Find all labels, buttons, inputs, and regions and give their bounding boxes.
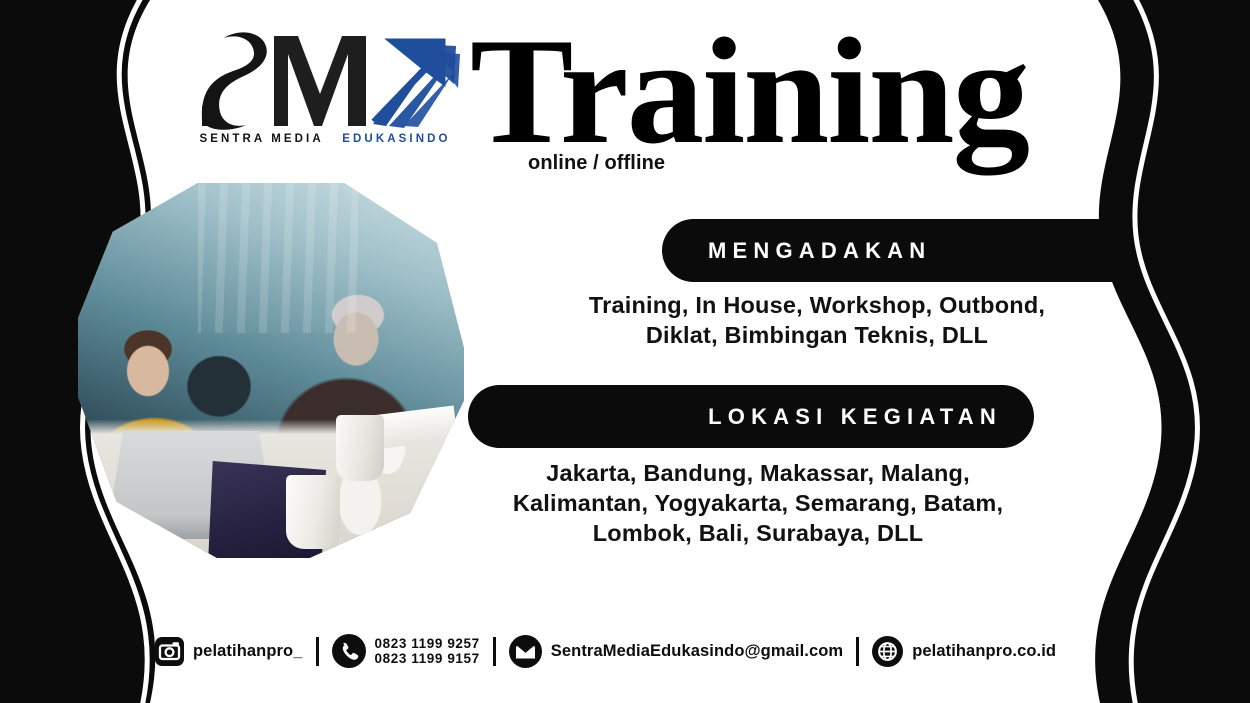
coffee-cup-back (336, 415, 384, 481)
logo-wordmark-blue: EDUKASINDO (342, 133, 450, 145)
contact-phone-value-2: 0823 1199 9157 (375, 651, 480, 666)
body-line: Jakarta, Bandung, Makassar, Malang, (436, 458, 1080, 488)
right-wave-shape (1095, 0, 1250, 703)
contact-instagram[interactable]: pelatihanpro_ (155, 637, 303, 666)
section-body-mengadakan: Training, In House, Workshop, Outbond, D… (495, 290, 1139, 350)
email-icon (509, 635, 542, 668)
contact-phone-value-1: 0823 1199 9257 (375, 636, 480, 651)
sm-monogram-book-icon (190, 28, 460, 132)
section-pill-label: MENGADAKAN (708, 238, 931, 264)
logo-wordmark: SENTRA MEDIA EDUKASINDO (190, 132, 460, 146)
business-meeting-photo (78, 183, 464, 558)
body-line: Lombok, Bali, Surabaya, DLL (436, 518, 1080, 548)
contact-divider (493, 637, 496, 666)
contact-email-value: SentraMediaEdukasindo@gmail.com (551, 642, 843, 661)
contact-website-value: pelatihanpro.co.id (912, 642, 1056, 661)
contact-email[interactable]: SentraMediaEdukasindo@gmail.com (509, 635, 843, 668)
office-glass-backdrop (198, 183, 358, 333)
contact-divider (856, 637, 859, 666)
contact-divider (316, 637, 319, 666)
contact-bar: pelatihanpro_ 0823 1199 9257 0823 1199 9… (155, 631, 1056, 671)
right-wave-accent-line (1131, 0, 1197, 703)
background-person-silhouette (174, 333, 264, 419)
page-subtitle: online / offline (528, 152, 665, 175)
instagram-icon (155, 637, 184, 666)
section-pill-mengadakan: MENGADAKAN (662, 219, 1132, 282)
section-pill-lokasi-kegiatan: LOKASI KEGIATAN (468, 385, 1034, 448)
body-line: Training, In House, Workshop, Outbond, (495, 290, 1139, 320)
coffee-cup-front (286, 475, 340, 549)
contact-website[interactable]: pelatihanpro.co.id (872, 636, 1056, 667)
body-line: Diklat, Bimbingan Teknis, DLL (495, 320, 1139, 350)
brand-logo: SENTRA MEDIA EDUKASINDO (190, 28, 460, 158)
phone-icon (332, 634, 366, 668)
section-body-lokasi-kegiatan: Jakarta, Bandung, Makassar, Malang, Kali… (436, 458, 1080, 548)
logo-wordmark-dark: SENTRA MEDIA (199, 133, 323, 145)
globe-icon (872, 636, 903, 667)
flyer-poster: SENTRA MEDIA EDUKASINDO Training online … (0, 0, 1250, 703)
section-pill-label: LOKASI KEGIATAN (708, 404, 1002, 430)
body-line: Kalimantan, Yogyakarta, Semarang, Batam, (436, 488, 1080, 518)
page-title: Training (470, 16, 1028, 166)
contact-phone-values: 0823 1199 9257 0823 1199 9157 (375, 636, 480, 666)
contact-phone[interactable]: 0823 1199 9257 0823 1199 9157 (332, 634, 480, 668)
contact-instagram-value: pelatihanpro_ (193, 642, 303, 661)
